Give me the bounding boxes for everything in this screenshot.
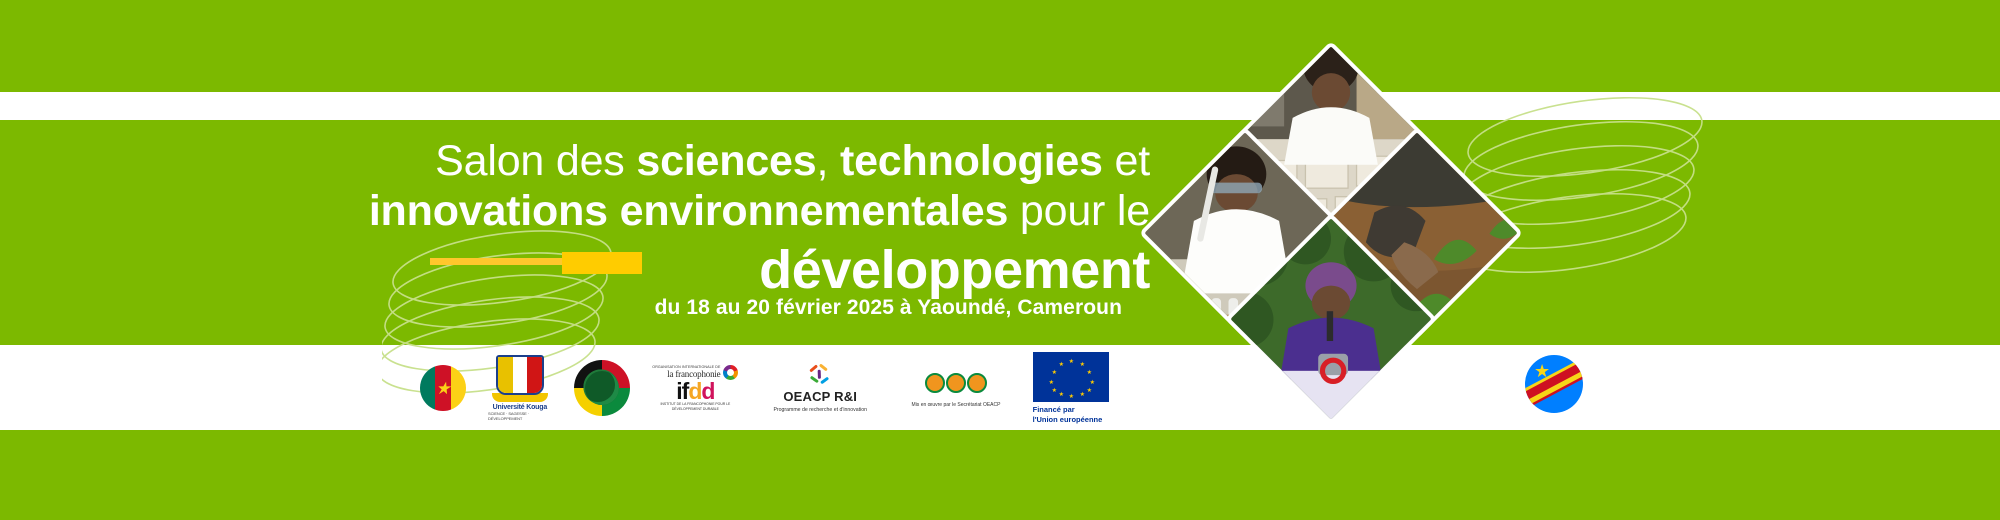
logo-universite-yaounde: Université Kouga SCIENCE · SAGESSE · DÉV…	[488, 348, 552, 428]
photo-collage	[1168, 70, 1498, 420]
band-top-green	[0, 0, 2000, 92]
oeacp-title: OEACP R&I	[783, 389, 857, 404]
acp-seeds-icon	[925, 368, 987, 398]
event-banner: Salon des sciences, technologies et inno…	[0, 0, 2000, 520]
oeacp-network-icon	[807, 363, 833, 387]
eu-caption-line-1: Financé par	[1033, 405, 1103, 414]
eu-caption-line-2: l'Union européenne	[1033, 415, 1103, 424]
headline-line-1: Salon des sciences, technologies et	[0, 138, 1150, 184]
logo-oeacp-ri: OEACP R&I Programme de recherche et d'in…	[761, 348, 879, 428]
logo-university-tagline: SCIENCE · SAGESSE · DÉVELOPPEMENT	[488, 411, 552, 421]
eu-flag-icon: ★ ★ ★ ★ ★ ★ ★ ★ ★ ★ ★ ★	[1033, 352, 1109, 402]
logo-oeacp-secretariat: Mis en œuvre par le Secrétariat OEACP	[901, 348, 1010, 428]
band-white-upper	[0, 92, 2000, 120]
eu-funding-caption: Financé par l'Union européenne	[1033, 405, 1103, 424]
oeacp-subtitle: Programme de recherche et d'innovation	[773, 407, 867, 413]
drc-star-icon: ★	[1534, 362, 1550, 380]
cameroon-flag-icon: ★	[420, 365, 466, 411]
francophonie-ring-icon	[723, 365, 738, 380]
logo-european-union: ★ ★ ★ ★ ★ ★ ★ ★ ★ ★ ★ ★ Financé par l'Un…	[1033, 348, 1120, 428]
headline-line-2: innovations environnementales pour le	[0, 188, 1150, 234]
headline-line1-suffix: et	[1103, 137, 1150, 185]
logo-university-label: Université Kouga	[493, 404, 547, 411]
university-crest-icon	[496, 355, 544, 395]
headline-line2-suffix: pour le	[1008, 187, 1150, 235]
headline-phrase-innovations: innovations environnementales	[369, 187, 1008, 235]
headline-word-technologies: technologies	[840, 137, 1103, 185]
ifdd-subtitle: INSTITUT DE LA FRANCOPHONIE POUR LE DÉVE…	[652, 402, 739, 411]
oeacp-secretariat-subtitle: Mis en œuvre par le Secrétariat OEACP	[912, 402, 1001, 408]
partner-logos-strip: ★ République du Cameroun Université Koug…	[420, 348, 1120, 428]
logo-africa-emblem: Emblème Afrique	[574, 348, 630, 428]
headline-comma: ,	[816, 137, 840, 185]
africa-globe-icon	[574, 360, 630, 416]
band-bottom-green	[0, 430, 2000, 520]
headline-line1-prefix: Salon des	[435, 137, 636, 185]
headline-word-sciences: sciences	[636, 137, 816, 185]
logo-cameroon-flag: ★ République du Cameroun	[420, 348, 466, 428]
logo-ifdd-francophonie: ORGANISATION INTERNATIONALE DE la franco…	[652, 348, 739, 428]
cameroon-star-icon: ★	[435, 380, 450, 397]
drc-flag-icon: ★	[1525, 355, 1583, 413]
ifdd-acronym: ifdd	[676, 381, 714, 402]
event-headline: Salon des sciences, technologies et inno…	[0, 138, 1150, 299]
event-dateline: du 18 au 20 février 2025 à Yaoundé, Came…	[0, 296, 1122, 320]
logo-drc-flag: ★ République démocratique du Congo	[1525, 355, 1583, 413]
accent-bar-thick	[562, 252, 642, 274]
